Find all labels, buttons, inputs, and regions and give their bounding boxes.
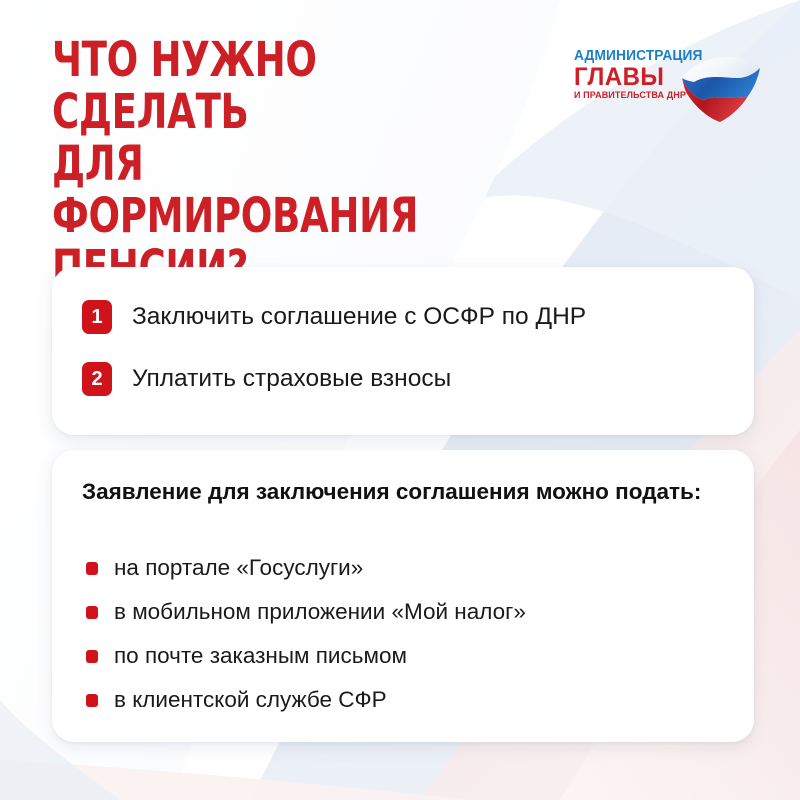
list-item: в клиентской службе СФР (86, 678, 736, 722)
steps-card: 1 Заключить соглашение с ОСФР по ДНР 2 У… (52, 267, 754, 435)
logo-wordmark: Администрация Главы и Правительства ДНР (574, 48, 692, 102)
step-row: 2 Уплатить страховые взносы (82, 362, 451, 396)
list-item: в мобильном приложении «Мой налог» (86, 590, 736, 634)
logo-line-administration: Администрация (574, 48, 686, 64)
list-item-label: по почте заказным письмом (114, 642, 407, 670)
list-item-label: в мобильном приложении «Мой налог» (114, 598, 526, 626)
apply-card-heading: Заявление для заключения соглашения можн… (82, 476, 712, 508)
step-row: 1 Заключить соглашение с ОСФР по ДНР (82, 300, 586, 334)
poster-header: ЧТО НУЖНО СДЕЛАТЬ ДЛЯ ФОРМИРОВАНИЯ ПЕНСИ… (0, 0, 800, 250)
step-number-badge: 2 (82, 362, 112, 396)
list-item-label: в клиентской службе СФР (114, 686, 387, 714)
list-item: по почте заказным письмом (86, 634, 736, 678)
infographic-poster: ЧТО НУЖНО СДЕЛАТЬ ДЛЯ ФОРМИРОВАНИЯ ПЕНСИ… (0, 0, 800, 800)
bullet-square-icon (86, 606, 98, 619)
page-title: ЧТО НУЖНО СДЕЛАТЬ ДЛЯ ФОРМИРОВАНИЯ ПЕНСИ… (52, 34, 499, 294)
apply-methods-card: Заявление для заключения соглашения можн… (52, 450, 754, 742)
logo-line-head: Главы (574, 64, 687, 90)
step-number-badge: 1 (82, 300, 112, 334)
list-item: на портале «Госуслуги» (86, 546, 736, 590)
organization-logo: Администрация Главы и Правительства ДНР (574, 48, 764, 132)
bullet-square-icon (86, 562, 98, 575)
step-text: Уплатить страховые взносы (132, 364, 451, 394)
apply-methods-list: на портале «Госуслуги» в мобильном прило… (86, 546, 736, 722)
logo-line-government: и Правительства ДНР (574, 90, 686, 102)
list-item-label: на портале «Госуслуги» (114, 554, 363, 582)
step-text: Заключить соглашение с ОСФР по ДНР (132, 302, 586, 332)
russian-tricolor-flag-icon (678, 50, 764, 128)
bullet-square-icon (86, 694, 98, 707)
bullet-square-icon (86, 650, 98, 663)
